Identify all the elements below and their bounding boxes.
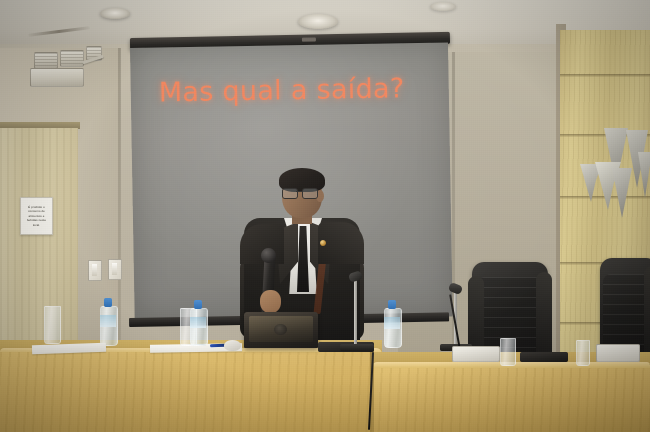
desk-box (596, 344, 640, 362)
air-conditioner-unit (30, 68, 84, 87)
air-conditioner-unit (34, 52, 58, 69)
water-bottle[interactable] (190, 300, 206, 344)
computer-mouse[interactable] (224, 340, 241, 351)
wall-corner-edge (118, 48, 121, 348)
desk-box (452, 346, 500, 362)
water-bottle[interactable] (100, 298, 116, 344)
light-switch[interactable] (88, 260, 102, 281)
microphone-head (448, 282, 463, 295)
recessed-downlight (100, 8, 130, 19)
screen-roller-button (302, 37, 316, 41)
presenter-hand (260, 290, 281, 313)
door-notice-text: É proibido o consumo de alimentos e bebi… (21, 204, 52, 229)
laptop[interactable] (244, 312, 318, 348)
gooseneck-microphone[interactable] (336, 272, 376, 350)
laptop-logo (274, 324, 287, 335)
water-bottle[interactable] (384, 300, 400, 346)
room-door[interactable] (0, 128, 78, 348)
emblem-triangle (638, 152, 650, 198)
drinking-glass[interactable] (44, 306, 61, 344)
microphone-head (261, 248, 276, 263)
light-switch[interactable] (108, 259, 122, 280)
lapel-pin (320, 240, 326, 246)
air-conditioner-unit (60, 50, 84, 67)
eyeglasses-icon (282, 188, 318, 197)
microphone-head (348, 270, 363, 283)
emblem-triangle (612, 168, 632, 218)
dais-bench-panel (372, 368, 650, 432)
drinking-glass[interactable] (576, 340, 590, 366)
drinking-glass[interactable] (500, 338, 516, 366)
front-bench-panel (0, 352, 380, 432)
desk-equipment (520, 352, 568, 362)
recessed-downlight (298, 14, 338, 29)
institutional-wall-emblem (578, 128, 650, 223)
recessed-downlight (430, 2, 456, 11)
panel-groove (560, 74, 650, 77)
slide-text: Mas qual a saída? (159, 73, 439, 109)
door-notice-sign: É proibido o consumo de alimentos e bebi… (20, 197, 53, 235)
conference-room-photo: É proibido o consumo de alimentos e bebi… (0, 0, 650, 432)
